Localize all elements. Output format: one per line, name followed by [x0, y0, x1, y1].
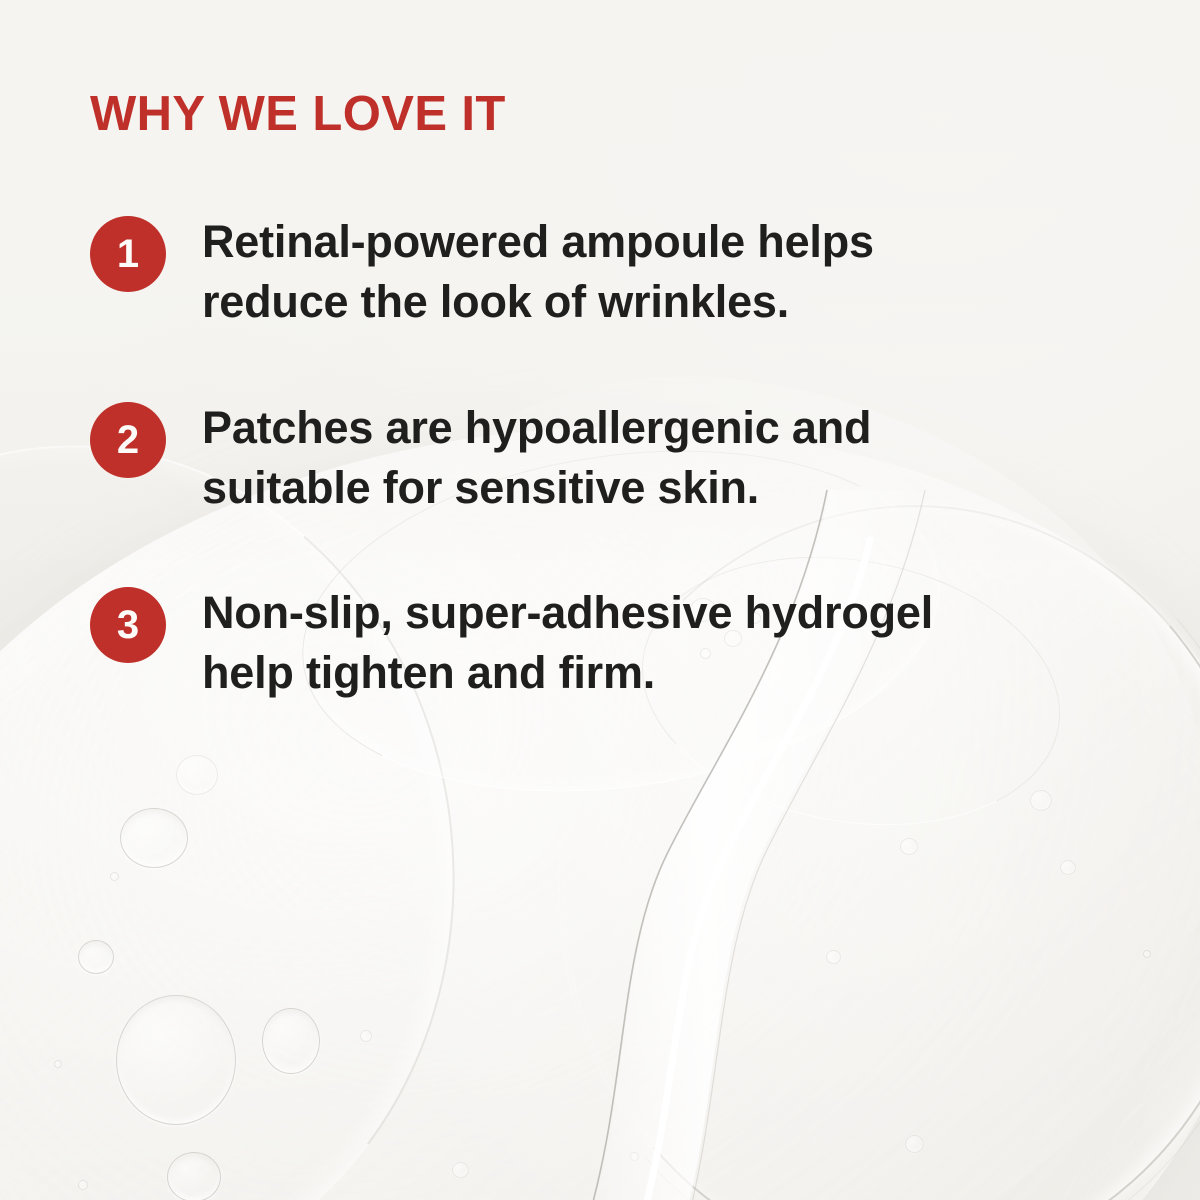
benefit-list: 1 Retinal-powered ampoule helps reduce t… [90, 212, 1130, 769]
benefit-item-1: 1 Retinal-powered ampoule helps reduce t… [90, 212, 1130, 332]
page-title: WHY WE LOVE IT [90, 90, 506, 139]
benefit-line: Patches are hypoallergenic and [202, 398, 871, 458]
benefit-text-2: Patches are hypoallergenic and suitable … [202, 398, 871, 518]
benefit-line: Retinal-powered ampoule helps [202, 212, 874, 272]
benefit-line: help tighten and firm. [202, 643, 933, 703]
benefit-number-badge-3: 3 [90, 587, 166, 663]
benefit-number-badge-2: 2 [90, 402, 166, 478]
benefit-text-3: Non-slip, super-adhesive hydrogel help t… [202, 583, 933, 703]
benefit-number-badge-1: 1 [90, 216, 166, 292]
benefit-line: reduce the look of wrinkles. [202, 272, 874, 332]
product-benefits-graphic: WHY WE LOVE IT 1 Retinal-powered ampoule… [0, 0, 1200, 1200]
benefit-line: Non-slip, super-adhesive hydrogel [202, 583, 933, 643]
benefit-line: suitable for sensitive skin. [202, 458, 871, 518]
benefit-item-3: 3 Non-slip, super-adhesive hydrogel help… [90, 583, 1130, 703]
benefit-text-1: Retinal-powered ampoule helps reduce the… [202, 212, 874, 332]
benefit-item-2: 2 Patches are hypoallergenic and suitabl… [90, 398, 1130, 518]
